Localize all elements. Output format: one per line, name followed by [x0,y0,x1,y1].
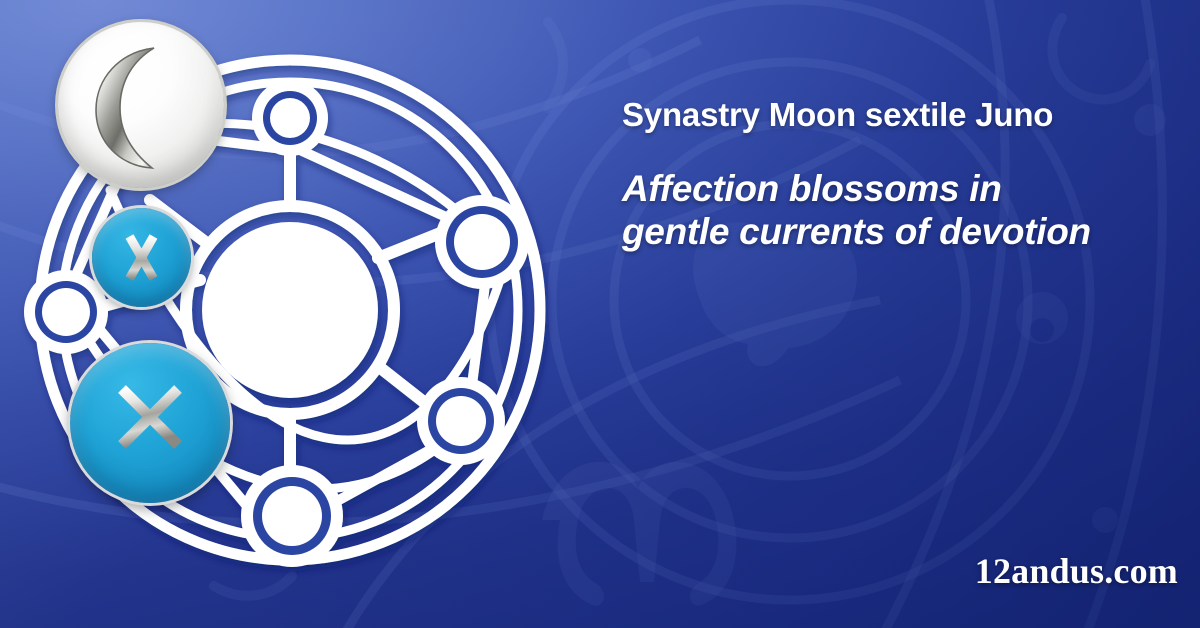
subtitle-line-1: Affection blossoms in [622,168,1178,211]
moon-planet-token [58,22,224,188]
headline: Synastry Moon sextile Juno [622,96,1174,134]
text-column: Synastry Moon sextile Juno Affection blo… [618,0,1178,628]
banner-root: Synastry Moon sextile Juno Affection blo… [0,0,1200,628]
brand-wordmark[interactable]: 12andus.com [975,550,1178,592]
subtitle: Affection blossoms in gentle currents of… [622,168,1178,254]
subtitle-line-2: gentle currents of devotion [622,211,1178,254]
juno-planet-token [70,343,230,503]
sextile-aspect-token [92,208,191,307]
